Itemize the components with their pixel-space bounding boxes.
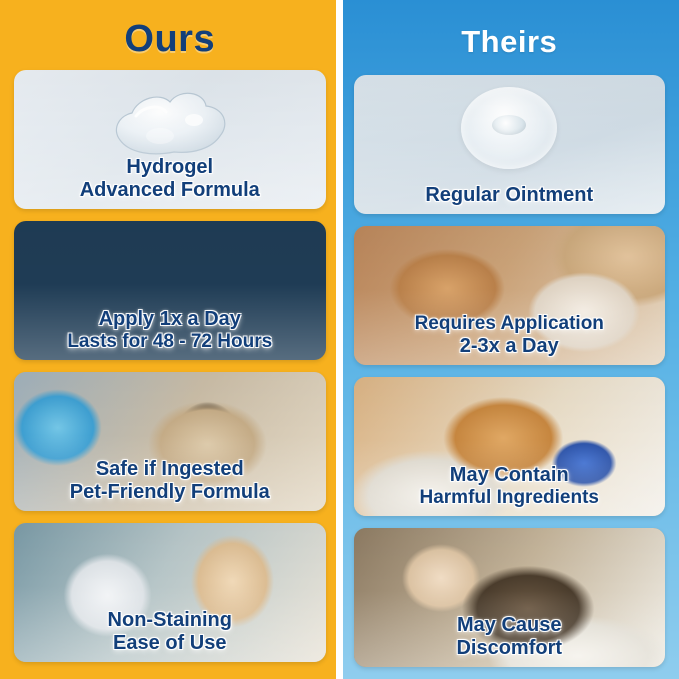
card-caption-theirs-3: May Contain Harmful Ingredients	[354, 464, 666, 508]
caption-line: Requires Application	[360, 313, 660, 334]
card-caption-theirs-4: May Cause Discomfort	[354, 614, 666, 659]
card-caption-ours-1: Hydrogel Advanced Formula	[14, 156, 326, 201]
caption-line: Apply 1x a Day	[20, 308, 320, 330]
caption-line: Hydrogel	[20, 156, 320, 178]
petri-dish-icon	[461, 87, 557, 169]
card-theirs-3: May Contain Harmful Ingredients	[354, 377, 666, 516]
caption-line: Advanced Formula	[20, 179, 320, 201]
comparison-board: Ours	[0, 0, 679, 679]
card-theirs-1: Regular Ointment	[354, 75, 666, 214]
cards-theirs: Regular Ointment Requires Application 2-…	[354, 75, 666, 667]
cards-ours: Hydrogel Advanced Formula Apply 1x a Day…	[14, 70, 326, 662]
card-ours-2: Apply 1x a Day Lasts for 48 - 72 Hours	[14, 221, 326, 360]
card-theirs-2: Requires Application 2-3x a Day	[354, 226, 666, 365]
column-theirs: Theirs Regular Ointment Requires Applica…	[340, 0, 679, 679]
column-divider	[336, 0, 343, 679]
caption-line: May Contain	[360, 464, 660, 486]
column-ours: Ours	[0, 0, 340, 679]
caption-line: Non-Staining	[20, 609, 320, 631]
caption-line: Harmful Ingredients	[360, 487, 660, 508]
card-ours-4: Non-Staining Ease of Use	[14, 523, 326, 662]
card-ours-1: Hydrogel Advanced Formula	[14, 70, 326, 209]
caption-line: 2-3x a Day	[360, 335, 660, 357]
card-caption-ours-2: Apply 1x a Day Lasts for 48 - 72 Hours	[14, 308, 326, 352]
card-caption-theirs-2: Requires Application 2-3x a Day	[354, 313, 666, 357]
caption-line: Pet-Friendly Formula	[20, 481, 320, 503]
caption-line: Discomfort	[360, 637, 660, 659]
caption-line: Ease of Use	[20, 632, 320, 654]
card-theirs-4: May Cause Discomfort	[354, 528, 666, 667]
caption-line: Regular Ointment	[360, 184, 660, 206]
hydrogel-blob-icon	[108, 86, 232, 164]
card-caption-ours-3: Safe if Ingested Pet-Friendly Formula	[14, 458, 326, 503]
caption-line: Safe if Ingested	[20, 458, 320, 480]
card-caption-ours-4: Non-Staining Ease of Use	[14, 609, 326, 654]
column-title-ours: Ours	[14, 20, 326, 58]
caption-line: May Cause	[360, 614, 660, 636]
caption-line: Lasts for 48 - 72 Hours	[20, 331, 320, 352]
card-ours-3: Safe if Ingested Pet-Friendly Formula	[14, 372, 326, 511]
column-title-theirs: Theirs	[354, 26, 666, 57]
card-caption-theirs-1: Regular Ointment	[354, 184, 666, 206]
